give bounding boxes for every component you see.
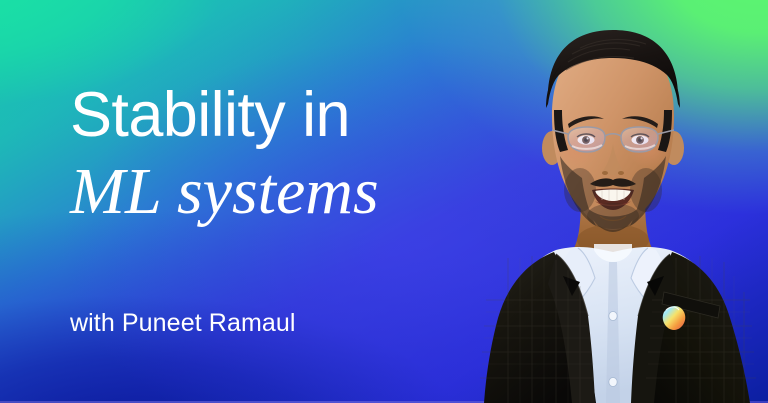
page-title-line-2: ML systems (70, 154, 510, 230)
speaker-portrait (468, 0, 768, 403)
promo-banner: Stability in ML systems with Puneet Rama… (0, 0, 768, 403)
speaker-subtitle: with Puneet Ramaul (70, 307, 296, 339)
title-block: Stability in ML systems (70, 78, 510, 230)
page-title-line-1: Stability in (70, 78, 510, 152)
